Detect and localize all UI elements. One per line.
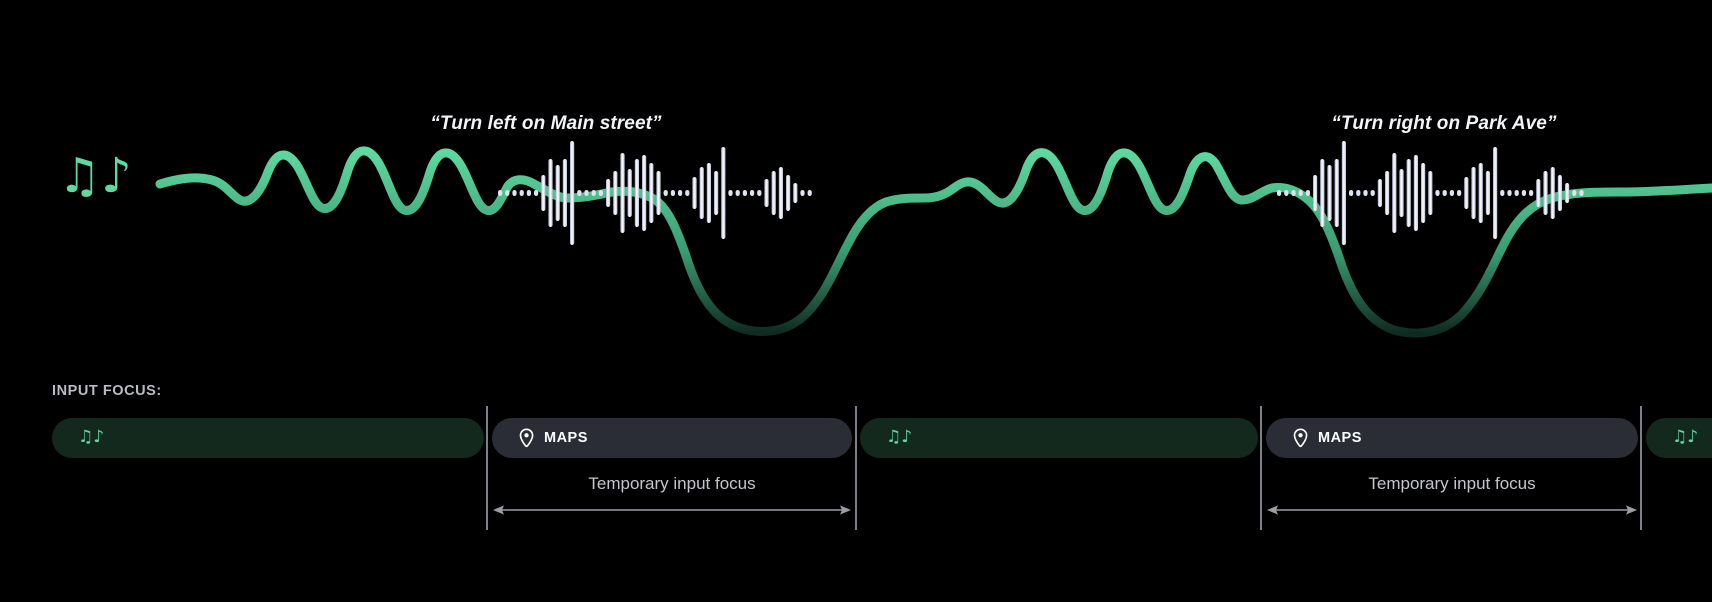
speech-bar [1457,190,1461,196]
speech-bar [1277,190,1281,196]
chip-music-2[interactable]: ♫♪ [860,418,1258,458]
speech-bar [1572,190,1576,196]
speech-bar [1327,165,1331,221]
map-pin-icon [1292,428,1309,448]
maps-quote-1: “Turn left on Main street” [430,113,661,135]
speech-bar [1421,163,1425,223]
speech-bar [1349,190,1353,196]
speech-bar [1450,190,1454,196]
chip-label: MAPS [544,430,588,446]
speech-bar [1291,190,1295,196]
speech-bar [1507,190,1511,196]
speech-bars-right [0,0,1712,350]
speech-bar [1464,177,1468,209]
speech-bar [1486,171,1490,215]
speech-bar [1536,179,1540,207]
speech-bar [1306,190,1310,196]
music-notes-icon: ♫♪ [1672,429,1698,446]
divider-2 [855,406,857,530]
speech-bar [1435,190,1439,196]
speech-bar [1471,167,1475,219]
speech-bar [1320,159,1324,227]
speech-bar [1299,190,1303,196]
speech-bar [1363,190,1367,196]
chip-maps-1[interactable]: MAPS [492,418,852,458]
speech-bar [1371,190,1375,196]
divider-3 [1260,406,1262,530]
span-maps-2-label: Temporary input focus [1368,474,1535,494]
speech-bar [1378,179,1382,207]
speech-bar [1493,147,1497,239]
speech-bar [1392,153,1396,233]
speech-bar [1428,171,1432,215]
speech-bar [1479,163,1483,223]
span-maps-1-arrow [492,503,852,517]
speech-bar [1551,167,1555,219]
speech-bar [1579,190,1583,196]
speech-bar [1500,190,1504,196]
chip-music-3[interactable]: ♫♪ [1646,418,1712,458]
speech-bar [1399,169,1403,217]
chip-maps-2[interactable]: MAPS [1266,418,1638,458]
span-maps-2-arrow [1266,503,1638,517]
speech-bar [1335,159,1339,227]
speech-bar [1407,159,1411,227]
divider-1 [486,406,488,530]
waveform-area: ♫♪ “Turn left on Main street” “Turn righ… [0,0,1712,350]
voice-input-focus-diagram: ♫♪ “Turn left on Main street” “Turn righ… [0,0,1712,602]
map-pin-icon [518,428,535,448]
divider-4 [1640,406,1642,530]
speech-bar [1522,190,1526,196]
music-notes-icon: ♫♪ [886,429,912,446]
speech-bar [1414,155,1418,231]
input-focus-label: INPUT FOCUS: [52,383,162,399]
chip-label: MAPS [1318,430,1362,446]
maps-quote-2: “Turn right on Park Ave” [1331,113,1556,135]
speech-bar [1284,190,1288,196]
speech-bar [1342,141,1346,245]
chip-music-1[interactable]: ♫♪ [52,418,484,458]
speech-bar [1356,190,1360,196]
speech-bar [1313,175,1317,211]
music-notes-icon: ♫♪ [78,429,104,446]
speech-bar [1443,190,1447,196]
speech-bar [1558,175,1562,211]
speech-bar [1565,183,1569,203]
speech-bar [1543,171,1547,215]
speech-bar [1515,190,1519,196]
speech-bar [1385,171,1389,215]
speech-bar [1529,190,1533,196]
span-maps-1-label: Temporary input focus [588,474,755,494]
